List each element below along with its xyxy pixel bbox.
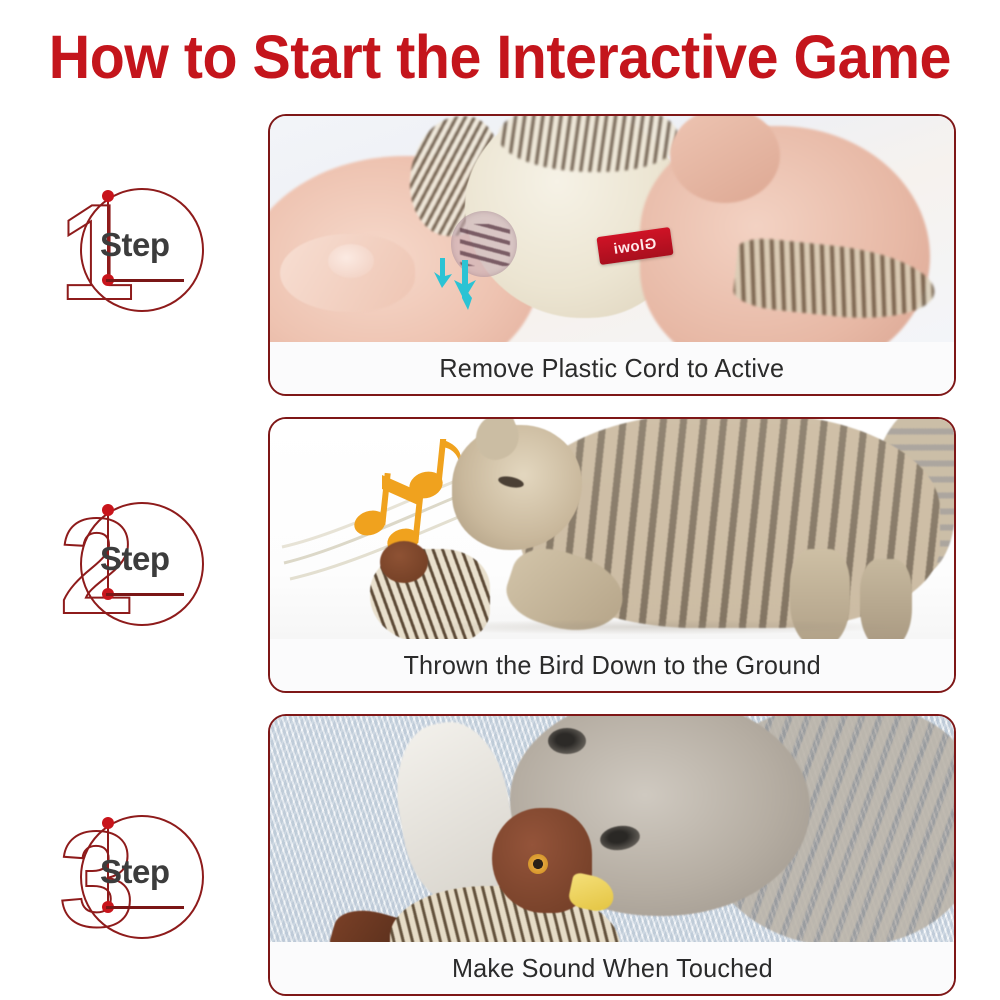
step-caption-bar-1: Remove Plastic Cord to Active — [270, 342, 954, 394]
step-underline-1 — [106, 279, 184, 282]
step-caption-text-2: Thrown the Bird Down to the Ground — [403, 650, 820, 681]
step-caption-bar-2: Thrown the Bird Down to the Ground — [270, 639, 954, 691]
cat-eye-upper — [548, 728, 586, 754]
step-panel-1: Glowi Remove Plastic Cord to Active — [268, 114, 956, 396]
brand-tag-text: Glowi — [612, 235, 657, 258]
step-panel-2: Thrown the Bird Down to the Ground — [268, 417, 956, 693]
page-title-text: How to Start the Interactive Game — [49, 27, 951, 88]
step-dot-top-1 — [102, 190, 114, 202]
bird-toy-head-2 — [380, 541, 428, 583]
step-dot-top-3 — [102, 817, 114, 829]
photo-cat-pawing-bird-toy — [270, 419, 954, 639]
step-photo-1: Glowi — [270, 116, 954, 342]
step-badge-2: 2 Step — [42, 492, 212, 642]
thumb-nail — [328, 244, 374, 278]
how-to-infographic: How to Start the Interactive Game 1 Step — [0, 0, 1000, 1000]
step-caption-text-3: Make Sound When Touched — [452, 953, 773, 984]
photo-cat-cuddling-bird-toy — [270, 716, 954, 942]
step-dot-top-2 — [102, 504, 114, 516]
step-caption-bar-3: Make Sound When Touched — [270, 942, 954, 994]
page-title: How to Start the Interactive Game — [0, 18, 1000, 96]
photo-hands-holding-bird-toy: Glowi — [270, 116, 954, 342]
step-underline-2 — [106, 593, 184, 596]
bird-toy-eye — [528, 854, 548, 874]
step-photo-2 — [270, 419, 954, 639]
step-panel-3: Make Sound When Touched — [268, 714, 956, 996]
step-badge-1: 1 Step — [42, 178, 212, 328]
step-caption-text-1: Remove Plastic Cord to Active — [440, 353, 785, 384]
ground-shadow — [390, 619, 910, 635]
step-underline-3 — [106, 906, 184, 909]
down-left-arrow-icon — [432, 254, 496, 316]
step-photo-3 — [270, 716, 954, 942]
step-label-1: Step — [100, 226, 170, 264]
step-label-3: Step — [100, 853, 170, 891]
step-badge-3: 3 Step — [42, 805, 212, 955]
step-label-2: Step — [100, 540, 170, 578]
